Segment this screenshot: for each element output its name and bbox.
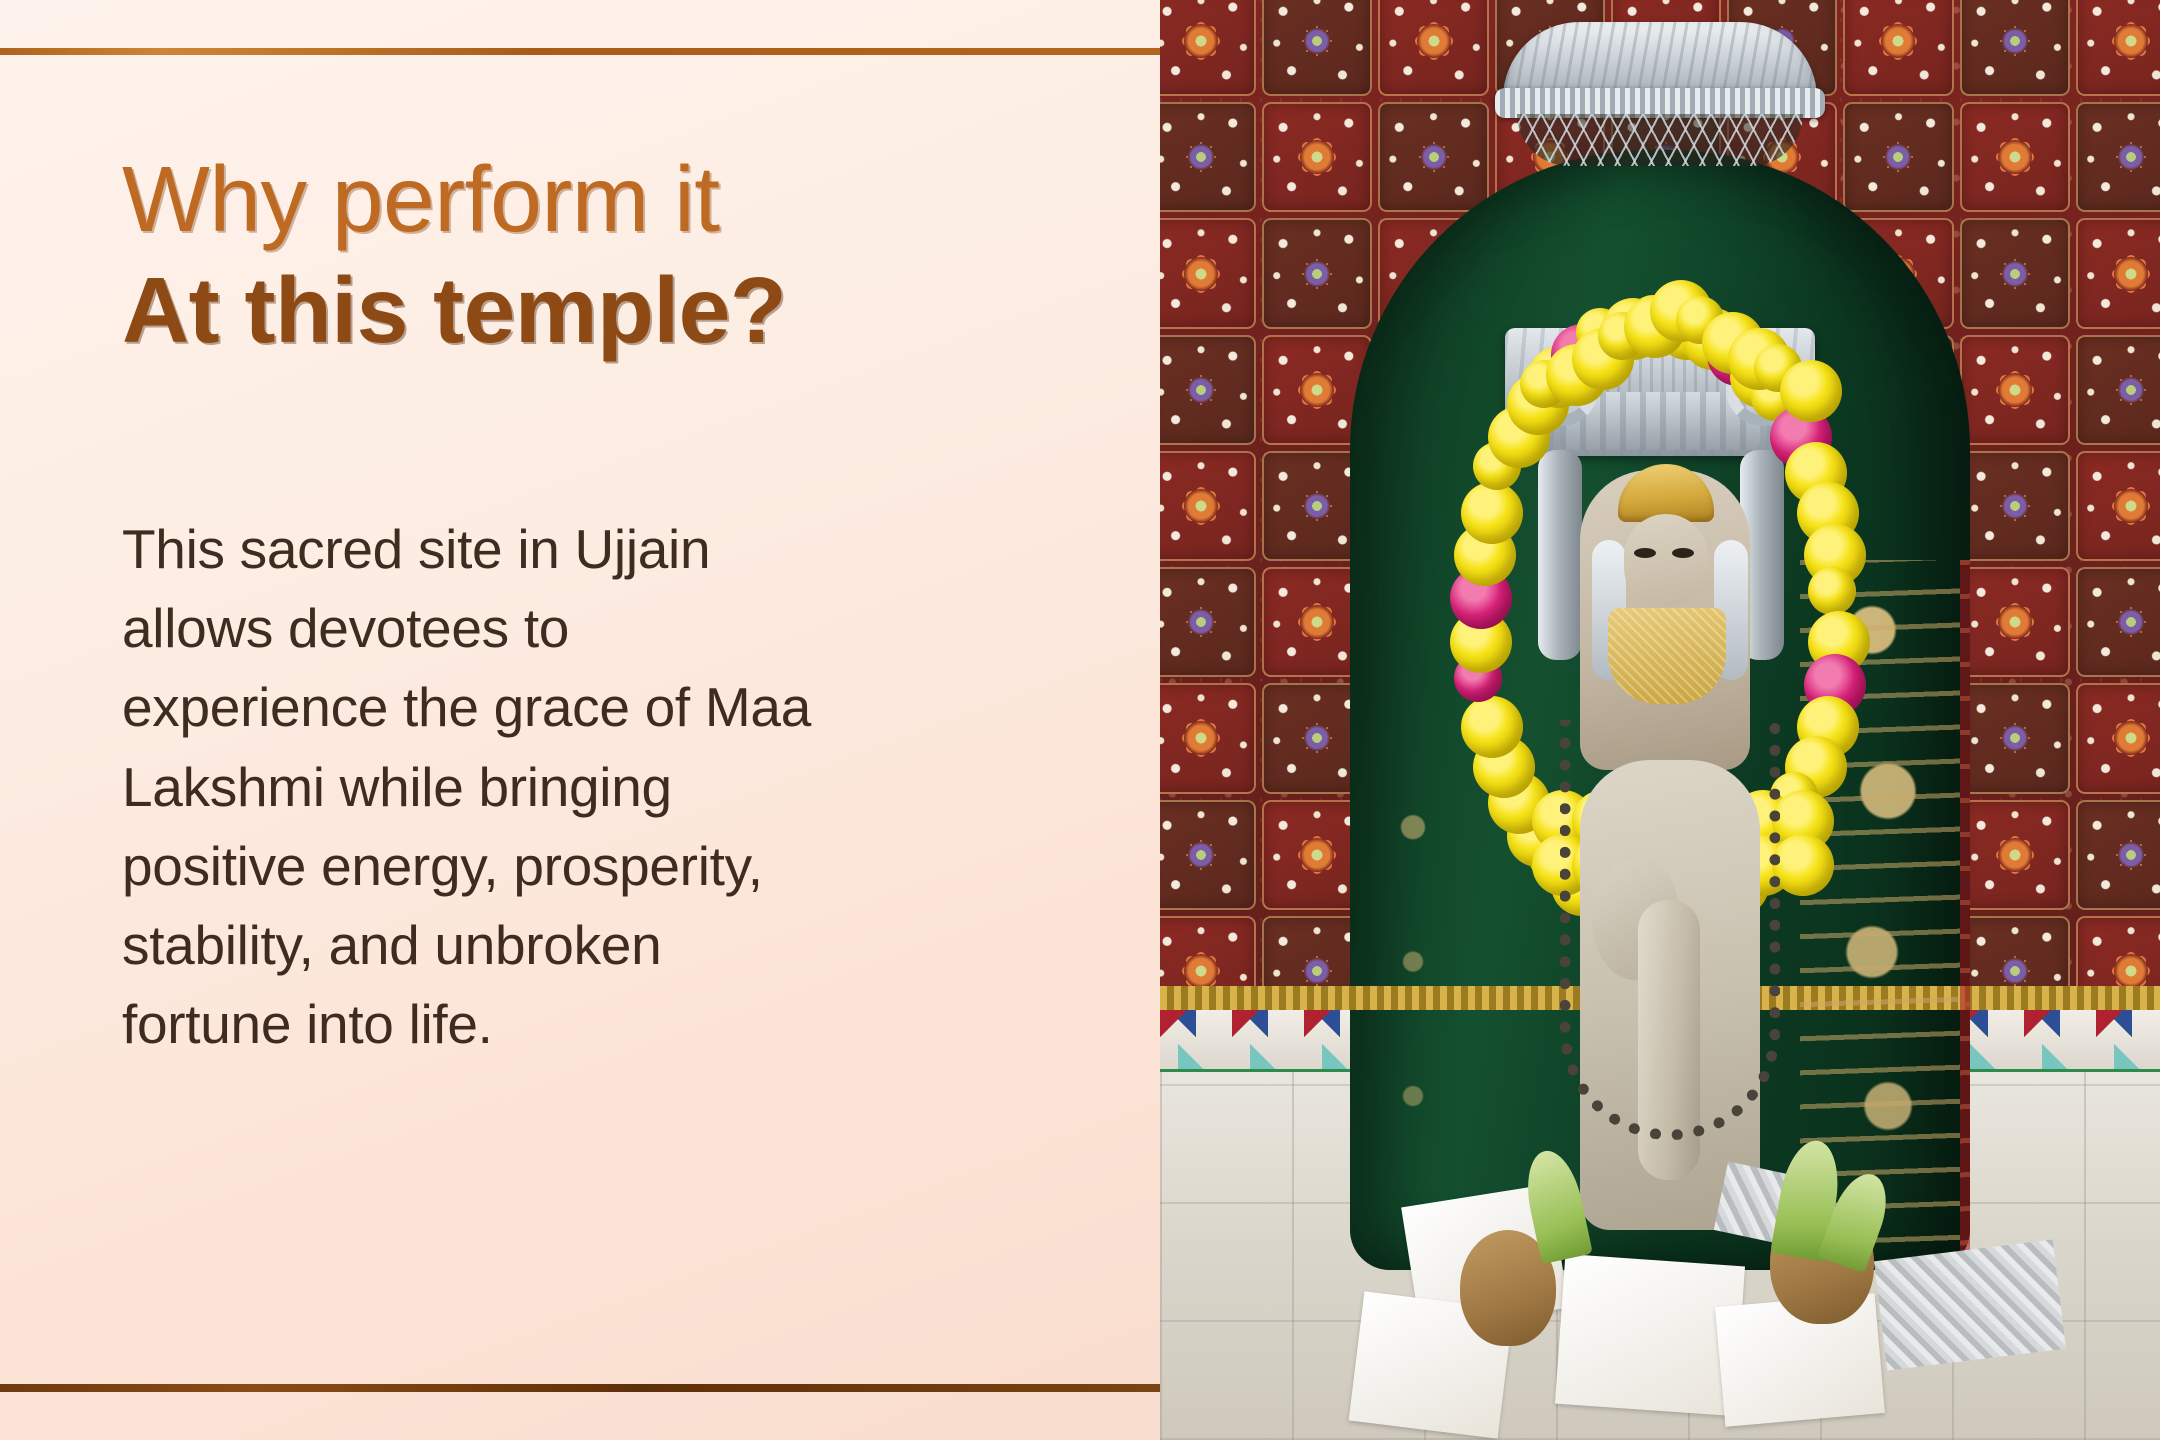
backdrop-tile [1960,800,2070,910]
backdrop-tile [1843,102,1953,212]
backdrop-tile [2076,0,2160,96]
backdrop-tile [1160,335,1256,445]
title-line-2: At this temple? [122,261,786,360]
backdrop-tile [2076,335,2160,445]
backdrop-tile [1160,102,1256,212]
body-line: stability, and unbroken [122,906,1052,985]
backdrop-tile [2076,102,2160,212]
page-title: Why perform it At this temple? [122,150,786,359]
backdrop-tile [1160,451,1256,561]
backdrop-tile [1378,102,1488,212]
backdrop-tile [2076,451,2160,561]
backdrop-tile [2076,800,2160,910]
slide-root: Why perform it At this temple? This sacr… [0,0,2160,1440]
deity-gold-necklace [1608,608,1726,704]
canopy-lattice-skirt [1517,114,1803,166]
backdrop-tile [1960,451,2070,561]
backdrop-tile [1960,567,2070,677]
bottom-divider-rule [0,1384,1160,1392]
prayer-bead-mala [1560,720,1780,1140]
top-divider-rule [0,48,1160,55]
backdrop-tile [2076,567,2160,677]
backdrop-tile [1262,218,1372,328]
deity-face [1624,514,1708,606]
deity-eye-left [1634,548,1656,558]
backdrop-tile [1378,0,1488,96]
backdrop-tile [1960,102,2070,212]
backdrop-tile [1262,102,1372,212]
backdrop-tile [1843,0,1953,96]
backdrop-tile [1960,218,2070,328]
backdrop-tile [1262,0,1372,96]
backdrop-tile [2076,683,2160,793]
backdrop-tile [2076,218,2160,328]
body-line: fortune into life. [122,985,1052,1064]
body-line: This sacred site in Ujjain [122,510,1052,589]
text-panel: Why perform it At this temple? This sacr… [0,0,1160,1440]
body-line: experience the grace of Maa [122,668,1052,747]
garland-marigold-flower [1780,360,1842,422]
deity-eye-right [1672,548,1694,558]
drape-embroidery-left [1358,760,1468,1240]
backdrop-tile [1960,335,2070,445]
silver-canopy-icon [1495,22,1825,162]
backdrop-tile [1160,0,1256,96]
backdrop-tile [1160,683,1256,793]
backdrop-tile [1960,683,2070,793]
body-line: allows devotees to [122,589,1052,668]
silver-pillar-left [1538,450,1582,660]
backdrop-tile [1160,218,1256,328]
offering-foil-wrap [1874,1239,2066,1370]
title-line-1: Why perform it [122,150,786,249]
offering-paper-packet [1555,1254,1745,1416]
body-line: positive energy, prosperity, [122,827,1052,906]
garland-marigold-flower [1461,482,1523,544]
body-paragraph: This sacred site in Ujjain allows devote… [122,510,1052,1064]
backdrop-tile [1160,800,1256,910]
temple-photo [1160,0,2160,1440]
backdrop-tile [1160,567,1256,677]
backdrop-tile [1960,0,2070,96]
body-line: Lakshmi while bringing [122,748,1052,827]
garland-marigold-flower [1772,834,1834,896]
